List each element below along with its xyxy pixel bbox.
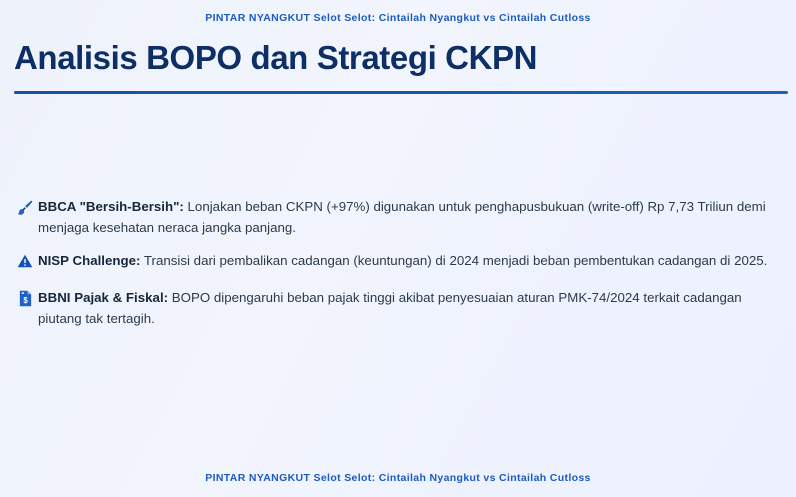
warning-triangle-icon (12, 251, 38, 275)
page-title: Analisis BOPO dan Strategi CKPN (14, 41, 782, 76)
title-block: Analisis BOPO dan Strategi CKPN (0, 24, 796, 94)
svg-text:$: $ (23, 296, 28, 305)
bullet-list: BBCA "Bersih-Bersih": Lonjakan beban CKP… (0, 197, 796, 342)
running-footer: PINTAR NYANGKUT Selot Selot: Cintailah N… (0, 472, 796, 484)
bullet-text: BBCA "Bersih-Bersih": Lonjakan beban CKP… (38, 197, 782, 238)
bullet-lead: BBNI Pajak & Fiskal: (38, 290, 168, 305)
bullet-lead: BBCA "Bersih-Bersih": (38, 199, 184, 214)
bullet-text: BBNI Pajak & Fiskal: BOPO dipengaruhi be… (38, 288, 782, 329)
invoice-dollar-icon: $ (12, 288, 38, 312)
bullet-lead: NISP Challenge: (38, 253, 140, 268)
list-item: NISP Challenge: Transisi dari pembalikan… (12, 251, 782, 275)
paint-brush-icon (12, 197, 38, 221)
bullet-body: Transisi dari pembalikan cadangan (keunt… (140, 253, 767, 268)
list-item: $ BBNI Pajak & Fiskal: BOPO dipengaruhi … (12, 288, 782, 329)
list-item: BBCA "Bersih-Bersih": Lonjakan beban CKP… (12, 197, 782, 238)
bullet-text: NISP Challenge: Transisi dari pembalikan… (38, 251, 782, 272)
title-divider (14, 91, 788, 94)
running-header: PINTAR NYANGKUT Selot Selot: Cintailah N… (0, 0, 796, 24)
slide-root: PINTAR NYANGKUT Selot Selot: Cintailah N… (0, 0, 796, 497)
